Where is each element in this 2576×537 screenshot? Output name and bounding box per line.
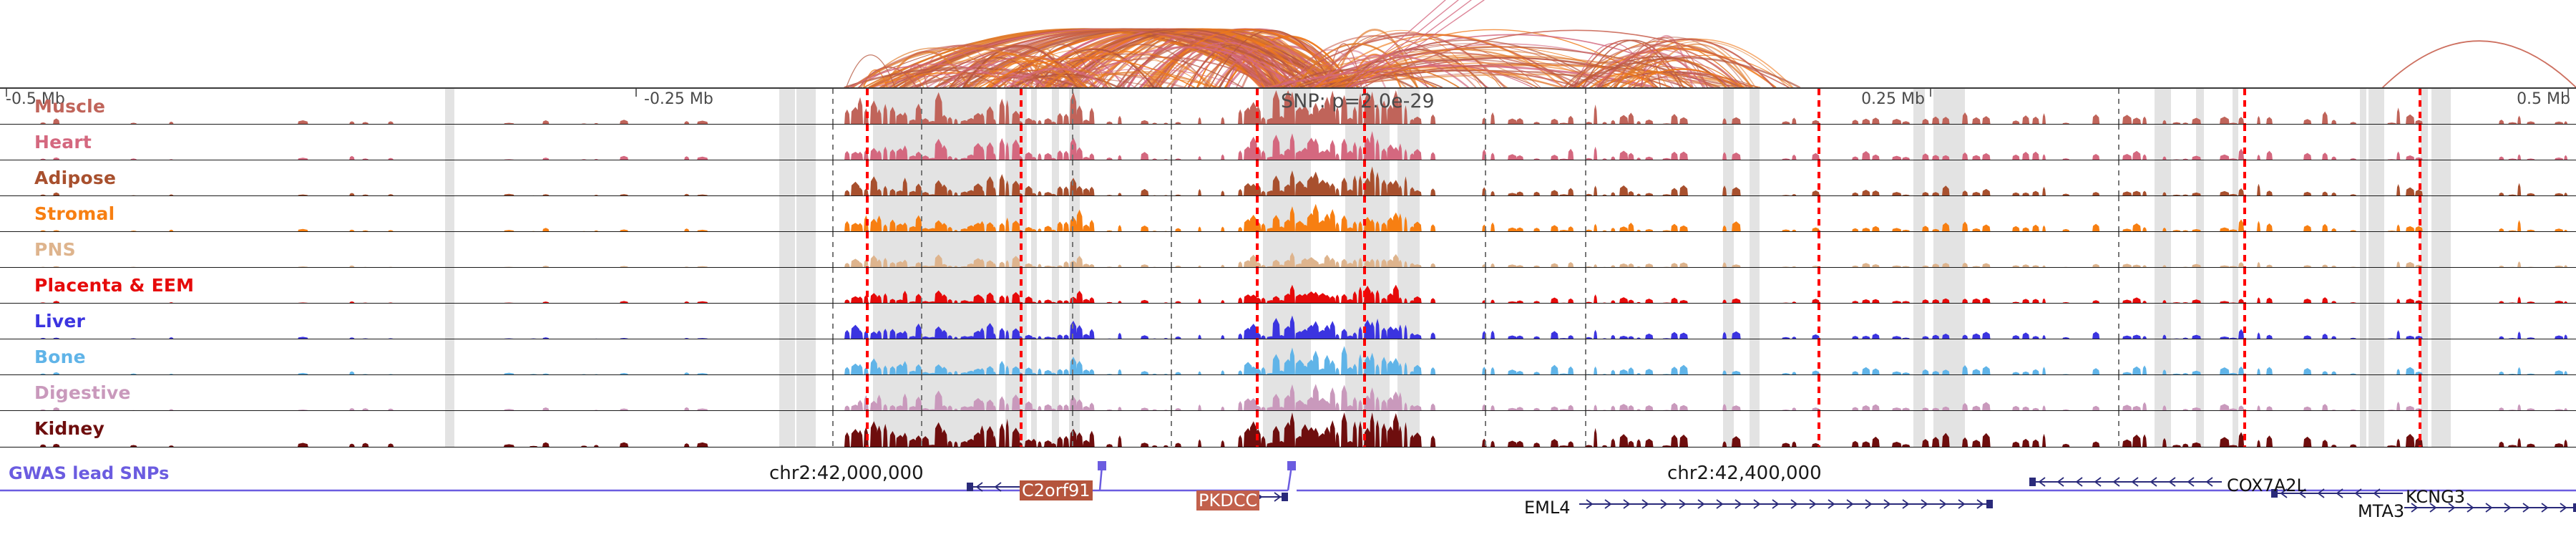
snp-pvalue-annotation: SNP: p=2.0e-29 — [1281, 90, 1435, 112]
red-snp-line — [1020, 411, 1023, 447]
red-snp-line — [2419, 268, 2421, 304]
track-bone[interactable]: Bone — [0, 339, 2576, 375]
track-label-stromal: Stromal — [34, 205, 114, 223]
snp-marker-lines — [0, 125, 2576, 160]
grey-marker-line — [921, 160, 922, 196]
grey-marker-line — [1485, 89, 1486, 125]
red-snp-line — [2243, 339, 2246, 375]
grey-marker-line — [1485, 160, 1486, 196]
red-snp-line — [1818, 196, 1820, 232]
gene-label-mta3[interactable]: MTA3 — [2358, 501, 2404, 521]
red-snp-line — [2243, 196, 2246, 232]
grey-marker-line — [921, 411, 922, 447]
grey-marker-line — [2118, 160, 2119, 196]
grey-marker-line — [1171, 196, 1172, 232]
red-snp-line — [1020, 125, 1023, 160]
grey-marker-line — [1485, 268, 1486, 304]
red-snp-line — [1020, 160, 1023, 196]
grey-marker-line — [1072, 89, 1073, 125]
snp-marker-lines — [0, 160, 2576, 196]
grey-marker-line — [1585, 411, 1586, 447]
grey-marker-line — [1171, 125, 1172, 160]
gene-track-svg — [0, 447, 2576, 537]
gwas-snp-marker[interactable] — [1287, 461, 1296, 470]
red-snp-line — [1818, 375, 1820, 411]
red-snp-line — [2243, 160, 2246, 196]
red-snp-line — [2419, 375, 2421, 411]
red-snp-line — [2419, 339, 2421, 375]
red-snp-line — [1363, 375, 1366, 411]
grey-marker-line — [832, 196, 834, 232]
red-snp-line — [1256, 125, 1259, 160]
interaction-arc — [2383, 41, 2576, 87]
grey-marker-line — [1485, 411, 1486, 447]
grey-marker-line — [2118, 268, 2119, 304]
genomic-coordinate-label: chr2:42,400,000 — [1667, 463, 1822, 484]
gene-terminus-block — [1986, 500, 1993, 508]
grey-marker-line — [1485, 304, 1486, 339]
track-label-muscle: Muscle — [34, 97, 105, 115]
red-snp-line — [1020, 89, 1023, 125]
track-digestive[interactable]: Digestive — [0, 375, 2576, 411]
grey-marker-line — [1585, 196, 1586, 232]
axis-tick-label: -0.25 Mb — [644, 90, 713, 108]
gene-label-c2orf91[interactable]: C2orf91 — [1020, 480, 1093, 500]
red-snp-line — [1363, 196, 1366, 232]
snp-marker-lines — [0, 232, 2576, 268]
grey-marker-line — [2118, 375, 2119, 411]
grey-marker-line — [1171, 304, 1172, 339]
red-snp-line — [866, 339, 869, 375]
red-snp-line — [1256, 339, 1259, 375]
red-snp-line — [1363, 160, 1366, 196]
gene-terminus-block — [2029, 478, 2036, 486]
red-snp-line — [866, 411, 869, 447]
red-snp-line — [2419, 232, 2421, 268]
red-snp-line — [866, 304, 869, 339]
red-snp-line — [866, 89, 869, 125]
red-snp-line — [2243, 304, 2246, 339]
red-snp-line — [2243, 268, 2246, 304]
grey-marker-line — [832, 411, 834, 447]
grey-marker-line — [1072, 196, 1073, 232]
grey-marker-line — [1171, 268, 1172, 304]
red-snp-line — [2243, 232, 2246, 268]
genomic-coordinate-label: chr2:42,000,000 — [769, 463, 924, 484]
red-snp-line — [1818, 411, 1820, 447]
grey-marker-line — [1485, 232, 1486, 268]
grey-marker-line — [1585, 160, 1586, 196]
grey-marker-line — [921, 232, 922, 268]
track-liver[interactable]: Liver — [0, 304, 2576, 339]
grey-marker-line — [1585, 89, 1586, 125]
track-kidney[interactable]: Kidney — [0, 411, 2576, 447]
grey-marker-line — [1072, 375, 1073, 411]
red-snp-line — [1818, 160, 1820, 196]
grey-marker-line — [1485, 125, 1486, 160]
red-snp-line — [1363, 232, 1366, 268]
red-snp-line — [1256, 304, 1259, 339]
gene-terminus-block — [967, 483, 973, 491]
red-snp-line — [1020, 339, 1023, 375]
grey-marker-line — [921, 196, 922, 232]
axis-tickmark — [1930, 89, 1931, 97]
genome-browser-figure: Muscle-0.5 Mb-0.25 Mb0.25 Mb0.5 MbSNP: p… — [0, 0, 2576, 537]
grey-marker-line — [2118, 232, 2119, 268]
gene-label-kcng3[interactable]: KCNG3 — [2406, 487, 2465, 507]
red-snp-line — [1818, 304, 1820, 339]
grey-marker-line — [1171, 411, 1172, 447]
red-snp-line — [866, 375, 869, 411]
track-pns[interactable]: PNS — [0, 232, 2576, 268]
grey-marker-line — [2118, 89, 2119, 125]
grey-marker-line — [1585, 304, 1586, 339]
grey-marker-line — [921, 375, 922, 411]
grey-marker-line — [832, 339, 834, 375]
grey-marker-line — [832, 160, 834, 196]
red-snp-line — [1020, 232, 1023, 268]
axis-tick-label: 0.5 Mb — [2517, 90, 2570, 108]
snp-marker-lines — [0, 196, 2576, 232]
axis-tick-label: 0.25 Mb — [1861, 90, 1925, 108]
grey-marker-line — [832, 268, 834, 304]
red-snp-line — [866, 160, 869, 196]
grey-marker-line — [1072, 411, 1073, 447]
grey-marker-line — [832, 375, 834, 411]
red-snp-line — [2243, 411, 2246, 447]
grey-marker-line — [1171, 232, 1172, 268]
grey-marker-line — [1072, 160, 1073, 196]
red-snp-line — [866, 268, 869, 304]
track-label-heart: Heart — [34, 133, 92, 151]
arc-svg — [0, 0, 2576, 87]
gene-label-eml4[interactable]: EML4 — [1524, 498, 1571, 518]
track-heart[interactable]: Heart — [0, 125, 2576, 160]
grey-marker-line — [921, 125, 922, 160]
grey-marker-line — [2118, 304, 2119, 339]
red-snp-line — [2243, 89, 2246, 125]
grey-marker-line — [2118, 339, 2119, 375]
red-snp-line — [1020, 196, 1023, 232]
red-snp-line — [1256, 160, 1259, 196]
snp-marker-lines — [0, 375, 2576, 411]
red-snp-line — [2419, 196, 2421, 232]
track-label-placenta-eem: Placenta & EEM — [34, 276, 194, 294]
red-snp-line — [1818, 339, 1820, 375]
grey-marker-line — [1171, 339, 1172, 375]
red-snp-line — [1256, 89, 1259, 125]
red-snp-line — [1363, 304, 1366, 339]
red-snp-line — [2243, 125, 2246, 160]
red-snp-line — [2419, 304, 2421, 339]
grey-marker-line — [1585, 268, 1586, 304]
gwas-snp-marker[interactable] — [1098, 461, 1106, 470]
snp-marker-lines — [0, 268, 2576, 304]
red-snp-line — [1363, 339, 1366, 375]
grey-marker-line — [2118, 196, 2119, 232]
grey-marker-line — [832, 304, 834, 339]
grey-marker-line — [1072, 304, 1073, 339]
grey-marker-line — [921, 89, 922, 125]
red-snp-line — [866, 232, 869, 268]
red-snp-line — [1818, 125, 1820, 160]
red-snp-line — [1256, 232, 1259, 268]
snp-marker-lines — [0, 339, 2576, 375]
red-snp-line — [2419, 411, 2421, 447]
snp-marker-lines — [0, 411, 2576, 447]
grey-marker-line — [1485, 196, 1486, 232]
grey-marker-line — [1072, 268, 1073, 304]
grey-marker-line — [1171, 89, 1172, 125]
red-snp-line — [1256, 375, 1259, 411]
red-snp-line — [1020, 304, 1023, 339]
red-snp-line — [866, 125, 869, 160]
grey-marker-line — [2118, 125, 2119, 160]
grey-marker-line — [1485, 339, 1486, 375]
grey-marker-line — [1485, 375, 1486, 411]
grey-marker-line — [832, 89, 834, 125]
grey-marker-line — [832, 232, 834, 268]
axis-tickmark — [635, 89, 637, 97]
red-snp-line — [1818, 89, 1820, 125]
grey-marker-line — [1072, 232, 1073, 268]
gene-label-cox7a2l[interactable]: COX7A2L — [2227, 475, 2306, 495]
red-snp-line — [1256, 196, 1259, 232]
red-snp-line — [866, 196, 869, 232]
red-snp-line — [1020, 375, 1023, 411]
track-label-digestive: Digestive — [34, 384, 131, 402]
grey-marker-line — [921, 268, 922, 304]
signal-track-stack: Muscle-0.5 Mb-0.25 Mb0.25 Mb0.5 MbSNP: p… — [0, 87, 2576, 447]
red-snp-line — [2419, 125, 2421, 160]
track-label-adipose: Adipose — [34, 169, 116, 187]
gene-label-pkdcc[interactable]: PKDCC — [1196, 490, 1259, 511]
track-label-kidney: Kidney — [34, 420, 104, 437]
gene-annotation-panel: GWAS lead SNPs chr2:42,000,000chr2:42,40… — [0, 447, 2576, 537]
red-snp-line — [2419, 160, 2421, 196]
grey-marker-line — [1585, 339, 1586, 375]
grey-marker-line — [2118, 411, 2119, 447]
grey-marker-line — [921, 339, 922, 375]
grey-marker-line — [1072, 339, 1073, 375]
grey-marker-line — [1585, 375, 1586, 411]
red-snp-line — [1256, 411, 1259, 447]
red-snp-line — [1818, 268, 1820, 304]
track-muscle[interactable]: Muscle-0.5 Mb-0.25 Mb0.25 Mb0.5 MbSNP: p… — [0, 89, 2576, 125]
grey-marker-line — [1585, 125, 1586, 160]
gene-terminus-block — [2573, 503, 2576, 512]
track-label-pns: PNS — [34, 241, 76, 258]
chromatin-interaction-arc-panel — [0, 0, 2576, 87]
gwas-connector-lines — [0, 461, 2576, 490]
snp-marker-lines — [0, 304, 2576, 339]
grey-marker-line — [1585, 232, 1586, 268]
red-snp-line — [2419, 89, 2421, 125]
grey-marker-line — [1171, 375, 1172, 411]
red-snp-line — [2243, 375, 2246, 411]
red-snp-line — [1363, 411, 1366, 447]
grey-marker-line — [1171, 160, 1172, 196]
track-adipose[interactable]: Adipose — [0, 160, 2576, 196]
red-snp-line — [1363, 125, 1366, 160]
track-label-liver: Liver — [34, 312, 85, 330]
red-snp-line — [1020, 268, 1023, 304]
red-snp-line — [1363, 268, 1366, 304]
track-placenta-eem[interactable]: Placenta & EEM — [0, 268, 2576, 304]
track-label-bone: Bone — [34, 348, 86, 366]
grey-marker-line — [921, 304, 922, 339]
grey-marker-line — [1072, 125, 1073, 160]
grey-marker-line — [832, 125, 834, 160]
gene-terminus-block — [1282, 493, 1288, 501]
red-snp-line — [1256, 268, 1259, 304]
red-snp-line — [1818, 232, 1820, 268]
track-stromal[interactable]: Stromal — [0, 196, 2576, 232]
